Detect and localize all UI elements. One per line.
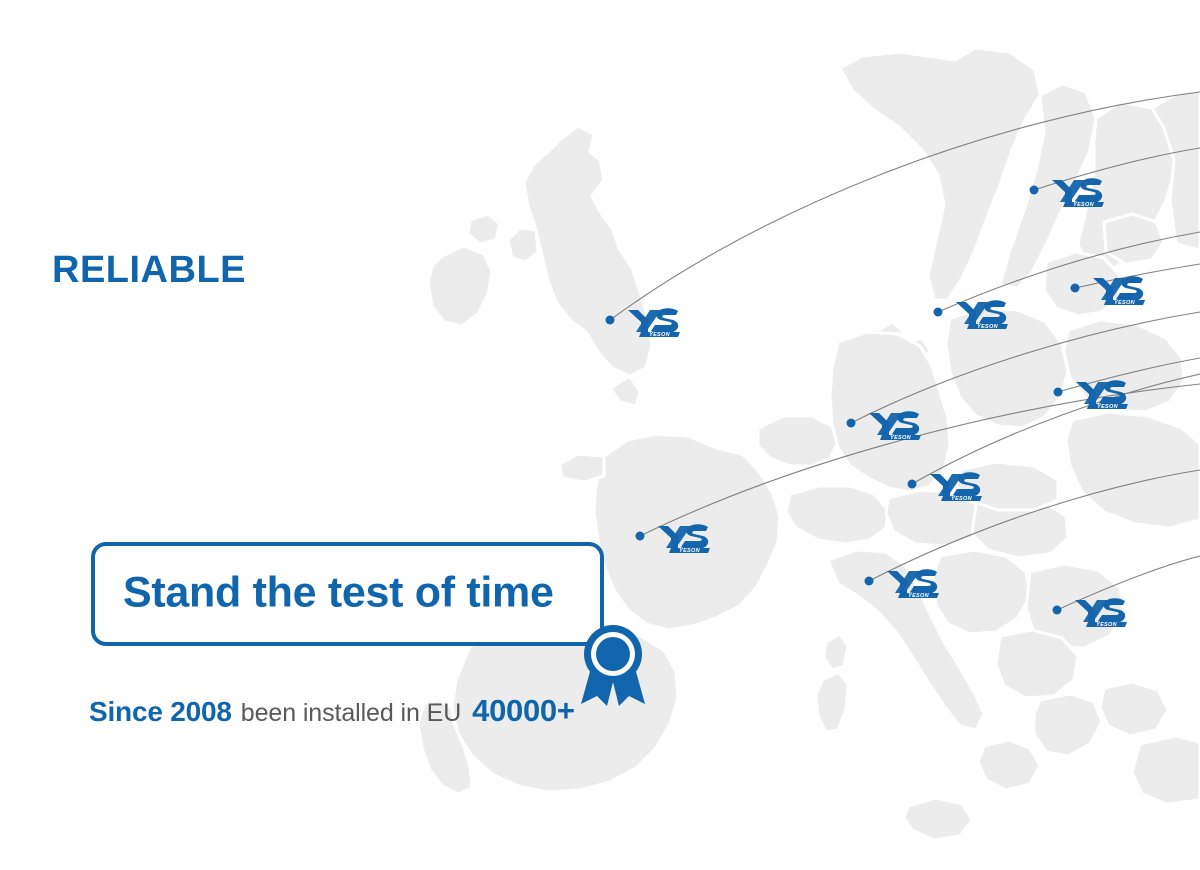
infographic-canvas: YESON YESON bbox=[0, 0, 1200, 870]
yeson-logo-icon: YESON bbox=[954, 299, 1010, 329]
tagline-middle: been installed in EU bbox=[241, 701, 461, 726]
yeson-logo-icon: YESON bbox=[928, 471, 984, 501]
callout-box: Stand the test of time bbox=[91, 542, 604, 646]
location-dot-icon bbox=[1054, 388, 1063, 397]
tagline: Since 2008been installed in EU40000+ bbox=[89, 695, 575, 726]
svg-text:YESON: YESON bbox=[890, 435, 911, 440]
tagline-since: Since 2008 bbox=[89, 698, 232, 726]
svg-text:YESON: YESON bbox=[679, 548, 700, 553]
location-dot-icon bbox=[908, 480, 917, 489]
yeson-logo-icon: YESON bbox=[1073, 597, 1129, 627]
svg-text:YESON: YESON bbox=[1097, 404, 1118, 409]
svg-text:YESON: YESON bbox=[649, 332, 670, 337]
svg-text:YESON: YESON bbox=[908, 593, 929, 598]
svg-text:YESON: YESON bbox=[977, 324, 998, 329]
location-dot-icon bbox=[934, 308, 943, 317]
location-dot-icon bbox=[606, 316, 615, 325]
svg-text:YESON: YESON bbox=[1114, 300, 1135, 305]
svg-text:YESON: YESON bbox=[1096, 622, 1117, 627]
tagline-count: 40000+ bbox=[472, 695, 575, 726]
yeson-logo-icon: YESON bbox=[1050, 177, 1106, 207]
location-dot-icon bbox=[1071, 284, 1080, 293]
yeson-logo-icon: YESON bbox=[867, 410, 923, 440]
location-dot-icon bbox=[636, 532, 645, 541]
location-dot-icon bbox=[1030, 186, 1039, 195]
callout-text: Stand the test of time bbox=[123, 569, 554, 618]
yeson-logo-icon: YESON bbox=[1091, 275, 1147, 305]
yeson-logo-icon: YESON bbox=[626, 307, 682, 337]
location-dot-icon bbox=[847, 419, 856, 428]
location-dot-icon bbox=[1053, 606, 1062, 615]
location-dot-icon bbox=[865, 577, 874, 586]
award-ribbon-icon bbox=[575, 620, 651, 706]
svg-text:YESON: YESON bbox=[951, 496, 972, 501]
yeson-logo-icon: YESON bbox=[885, 568, 941, 598]
yeson-logo-icon: YESON bbox=[656, 523, 712, 553]
yeson-logo-icon: YESON bbox=[1074, 379, 1130, 409]
svg-text:YESON: YESON bbox=[1073, 202, 1094, 207]
europe-map-background bbox=[0, 0, 1200, 870]
page-title: RELIABLE bbox=[52, 251, 246, 289]
